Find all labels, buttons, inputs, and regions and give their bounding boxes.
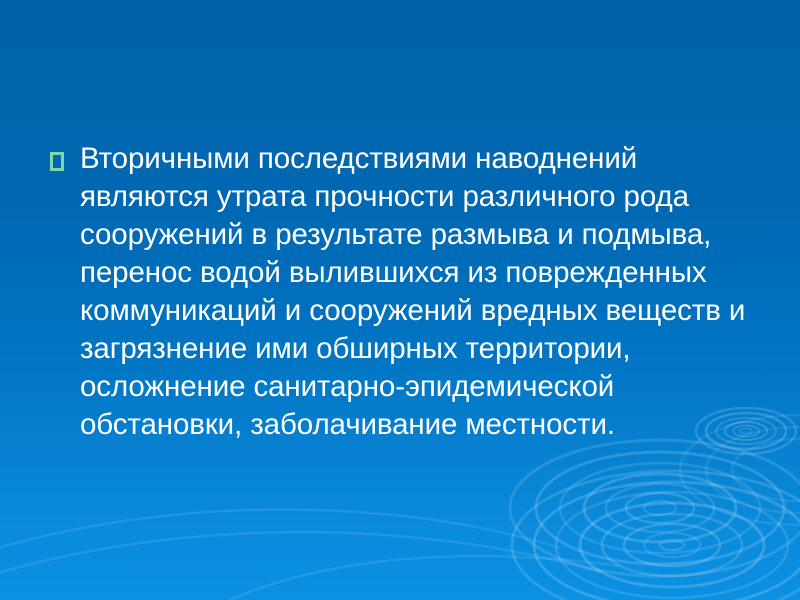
ripple-large bbox=[512, 471, 800, 600]
bullet-list-item: Вторичными последствиями наводнений явля… bbox=[44, 140, 760, 444]
ripple-arcs bbox=[0, 509, 620, 600]
slide-body: Вторичными последствиями наводнений явля… bbox=[44, 140, 760, 444]
presentation-slide: Вторичными последствиями наводнений явля… bbox=[0, 0, 800, 600]
square-bullet-icon bbox=[50, 152, 64, 171]
ripple-medium bbox=[510, 440, 800, 576]
bullet-item-text: Вторичными последствиями наводнений явля… bbox=[80, 140, 760, 444]
